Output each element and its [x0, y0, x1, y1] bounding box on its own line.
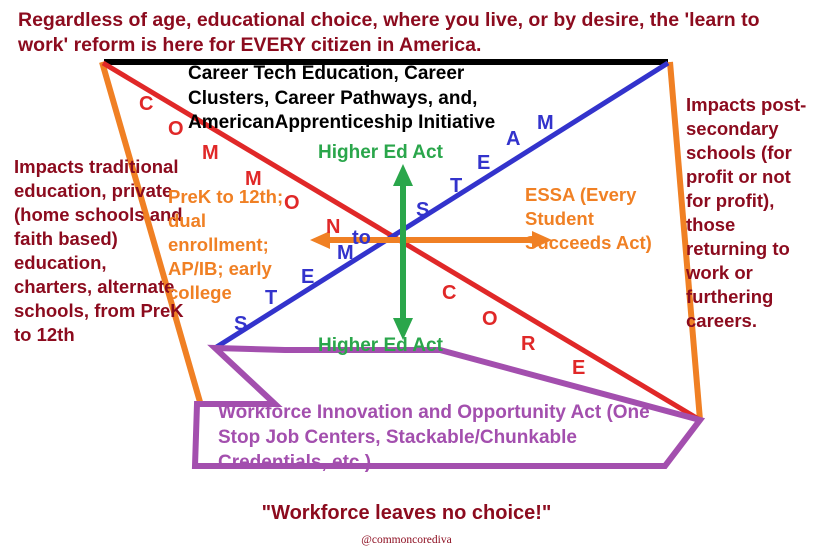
higher-ed-act-top-label: Higher Ed Act	[318, 142, 443, 164]
diagonal-letter-blue-15: T	[450, 175, 462, 198]
diagonal-letter-blue-14: S	[416, 199, 429, 222]
diagonal-letter-blue-12: E	[301, 266, 314, 289]
diagonal-letter-red-6: C	[442, 282, 456, 305]
diagonal-letter-red-5: N	[326, 216, 340, 239]
diagonal-letter-red-1: O	[168, 118, 184, 141]
diagonal-letter-red-9: E	[572, 357, 585, 380]
diagonal-letter-red-4: O	[284, 192, 300, 215]
green-vertical-double-arrow	[393, 164, 413, 340]
headline-text: Regardless of age, educational choice, w…	[18, 8, 808, 58]
diagonal-letter-blue-16: E	[477, 152, 490, 175]
right-impacts-text: Impacts post-secondary schools (for prof…	[686, 93, 808, 333]
diagonal-letter-blue-17: A	[506, 128, 520, 151]
diagonal-letter-blue-18: M	[537, 112, 554, 135]
diagonal-letter-blue-10: S	[234, 313, 247, 336]
author-handle: @commoncorediva	[0, 534, 813, 547]
orange-essa-text: ESSA (Every Student Succeeds Act)	[525, 183, 665, 255]
left-impacts-text: Impacts traditional education, private (…	[14, 155, 184, 347]
bottom-caption: "Workforce leaves no choice!"	[0, 502, 813, 524]
diagonal-letter-blue-13: M	[337, 242, 354, 265]
diagonal-letter-red-3: M	[245, 168, 262, 191]
higher-ed-act-bottom-label: Higher Ed Act	[318, 335, 443, 357]
diagonal-letter-red-0: C	[139, 93, 153, 116]
purple-wioa-text: Workforce Innovation and Opportunity Act…	[218, 400, 678, 475]
diagram-canvas: Regardless of age, educational choice, w…	[0, 0, 813, 558]
diagonal-letter-red-8: R	[521, 333, 535, 356]
center-title-text: Career Tech Education, Career Clusters, …	[188, 62, 548, 136]
center-to-label: to	[352, 227, 371, 250]
diagonal-letter-red-2: M	[202, 142, 219, 165]
diagonal-letter-blue-11: T	[265, 287, 277, 310]
diagonal-letter-red-7: O	[482, 308, 498, 331]
